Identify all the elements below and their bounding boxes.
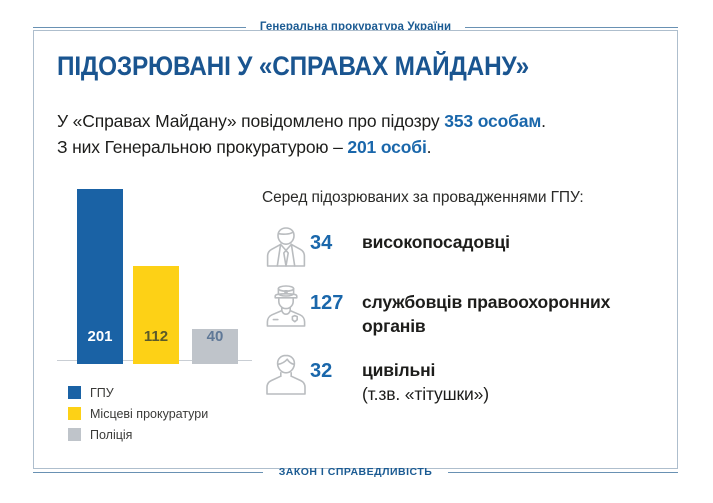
bar-0: 201 bbox=[77, 189, 123, 364]
stat-label-bold: цивільні bbox=[362, 360, 435, 380]
bar-value-label: 201 bbox=[87, 329, 112, 364]
subtitle-line-1-value: 353 особам bbox=[444, 111, 541, 131]
stat-label: цивільні(т.зв. «тітушки») bbox=[362, 348, 662, 406]
legend-label: Поліція bbox=[90, 428, 132, 442]
footer-slogan: ЗАКОН І СПРАВЕДЛИВІСТЬ bbox=[279, 466, 433, 478]
footer-rule-left bbox=[33, 472, 263, 473]
stat-row-0: 34високопосадовці bbox=[262, 220, 662, 270]
bar-value-label: 112 bbox=[144, 329, 168, 364]
page-title: ПІДОЗРЮВАНІ У «СПРАВАХ МАЙДАНУ» bbox=[57, 51, 529, 82]
panel-heading: Серед підозрюваних за провадженнями ГПУ: bbox=[262, 189, 584, 207]
official-person-icon bbox=[262, 222, 310, 270]
chart-plot-area: 20111240 bbox=[57, 186, 252, 364]
bar-2: 40 bbox=[192, 329, 238, 364]
stat-number: 32 bbox=[310, 348, 362, 384]
bar-1: 112 bbox=[133, 266, 179, 364]
header-rule-right bbox=[465, 27, 678, 28]
stat-label: високопосадовці bbox=[362, 220, 662, 254]
stat-number: 127 bbox=[310, 280, 362, 316]
civilian-person-icon bbox=[262, 350, 310, 398]
legend-swatch bbox=[68, 407, 81, 420]
legend-item-2: Поліція bbox=[68, 424, 278, 445]
subtitle-line-1: У «Справах Майдану» повідомлено про підо… bbox=[57, 108, 657, 134]
legend-swatch bbox=[68, 428, 81, 441]
legend-swatch bbox=[68, 386, 81, 399]
footer-rule-right bbox=[448, 472, 678, 473]
subtitle-line-2-value: 201 особі bbox=[347, 137, 426, 157]
bar-chart: 20111240 bbox=[57, 186, 252, 368]
stat-number: 34 bbox=[310, 220, 362, 256]
subtitle-line-1-pre: У «Справах Майдану» повідомлено про підо… bbox=[57, 111, 444, 131]
subtitle-line-2-post: . bbox=[427, 137, 432, 157]
statistics-list: 34високопосадовці127службовців правоохор… bbox=[262, 220, 662, 416]
stat-label-note: (т.зв. «тітушки») bbox=[362, 384, 489, 404]
infographic-page: Генеральна прокуратура України ПІДОЗРЮВА… bbox=[0, 0, 713, 503]
subtitle-text: У «Справах Майдану» повідомлено про підо… bbox=[57, 108, 657, 160]
legend-label: ГПУ bbox=[90, 386, 114, 400]
header-rule-left bbox=[33, 27, 246, 28]
police-officer-icon bbox=[262, 282, 310, 330]
subtitle-line-2-pre: З них Генеральною прокуратурою – bbox=[57, 137, 347, 157]
stat-label-bold: службовців правоохоронних органів bbox=[362, 292, 610, 336]
footer-strip: ЗАКОН І СПРАВЕДЛИВІСТЬ bbox=[33, 462, 678, 482]
legend-item-0: ГПУ bbox=[68, 382, 278, 403]
legend-label: Місцеві прокуратури bbox=[90, 407, 208, 421]
subtitle-line-1-post: . bbox=[541, 111, 546, 131]
stat-label: службовців правоохоронних органів bbox=[362, 280, 662, 338]
legend-item-1: Місцеві прокуратури bbox=[68, 403, 278, 424]
stat-label-bold: високопосадовці bbox=[362, 232, 510, 252]
subtitle-line-2: З них Генеральною прокуратурою – 201 осо… bbox=[57, 134, 657, 160]
chart-legend: ГПУМісцеві прокуратуриПоліція bbox=[68, 382, 278, 445]
bar-value-label: 40 bbox=[207, 329, 224, 364]
stat-row-1: 127службовців правоохоронних органів bbox=[262, 280, 662, 338]
stat-row-2: 32цивільні(т.зв. «тітушки») bbox=[262, 348, 662, 406]
